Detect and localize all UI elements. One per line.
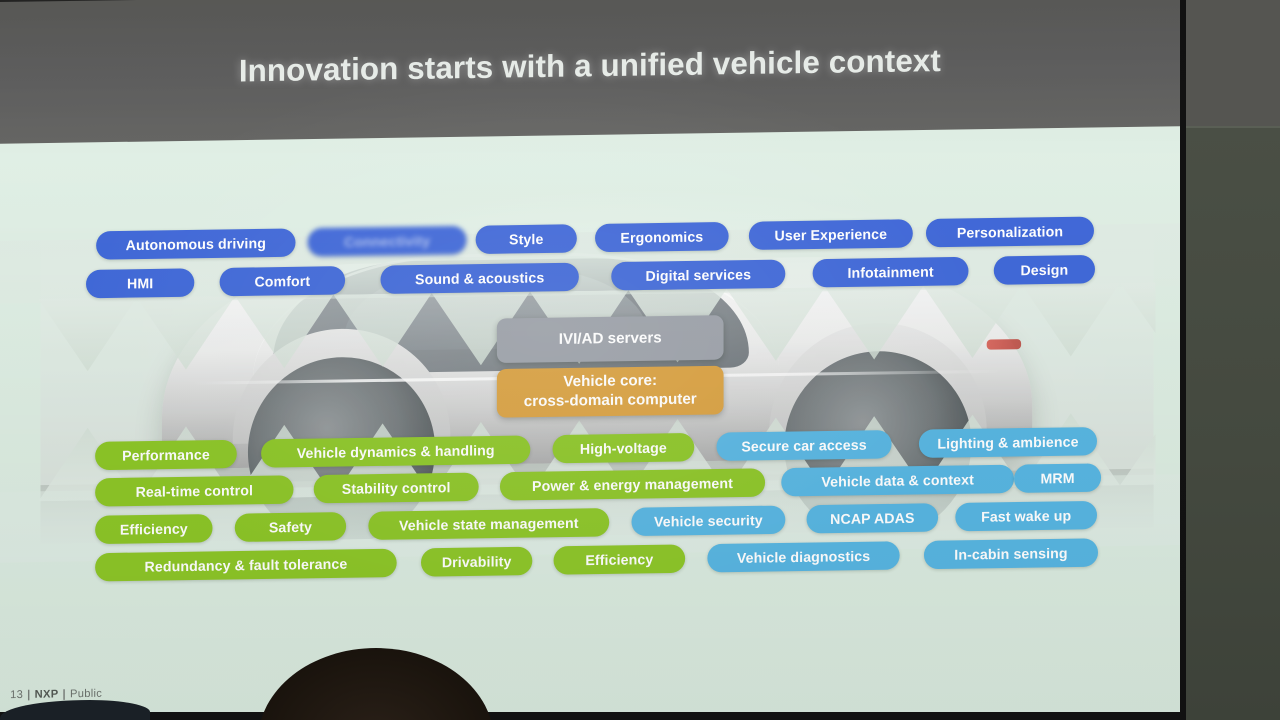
vehicle-core-line-1: Vehicle core:: [563, 372, 657, 393]
capability-pill: Vehicle security: [631, 505, 785, 536]
capability-pill: Efficiency: [554, 544, 686, 574]
capability-pill: Redundancy & fault tolerance: [95, 549, 397, 582]
capability-pill: Style: [476, 224, 577, 254]
capability-pill: Drivability: [421, 547, 532, 577]
capability-pill: Comfort: [220, 266, 345, 296]
capability-pill: Vehicle dynamics & handling: [261, 435, 530, 467]
capability-pill: In-cabin sensing: [924, 538, 1098, 569]
car-tail-light: [987, 339, 1021, 350]
capability-pill: User Experience: [749, 219, 913, 250]
capability-pill: Connectivity: [308, 226, 467, 257]
capability-pill: Efficiency: [95, 514, 212, 544]
footer-brand: NXP: [35, 688, 59, 700]
projection-screen: Innovation starts with a unified vehicle…: [0, 0, 1180, 712]
capability-pill: Power & energy management: [500, 468, 765, 500]
capability-pill: Vehicle diagnostics: [707, 541, 899, 572]
room-wall-right: [1186, 126, 1280, 720]
capability-pill: Autonomous driving: [96, 228, 295, 259]
capability-pill: Ergonomics: [595, 222, 729, 252]
capability-pill: Stability control: [314, 473, 479, 504]
vehicle-core-line-2: cross-domain computer: [524, 390, 697, 412]
wall-seam-line: [1186, 126, 1280, 128]
capability-pill: Performance: [95, 440, 237, 470]
vehicle-core-box: Vehicle core:cross-domain computer: [497, 366, 724, 418]
capability-pill: High-voltage: [553, 433, 695, 463]
footer-classification: Public: [70, 688, 102, 701]
photo-of-projected-slide: Innovation starts with a unified vehicle…: [0, 0, 1280, 720]
capability-pill: Sound & acoustics: [381, 263, 579, 294]
presentation-slide: Innovation starts with a unified vehicle…: [0, 0, 1180, 712]
capability-pill: Design: [994, 255, 1095, 285]
capability-pill: Real-time control: [95, 475, 293, 506]
footer-separator-2: |: [63, 688, 66, 700]
capability-pill: Safety: [235, 512, 346, 542]
footer-page-number: 13: [10, 689, 23, 701]
capability-pill: Vehicle state management: [368, 508, 609, 540]
ivi-ad-servers-box: IVI/AD servers: [497, 315, 724, 363]
projection-screen-frame: Innovation starts with a unified vehicle…: [0, 0, 1186, 720]
footer-separator-1: |: [27, 689, 30, 701]
capability-pill: Personalization: [926, 217, 1094, 248]
capability-pill: Digital services: [611, 260, 785, 291]
capability-pill: Secure car access: [716, 430, 891, 461]
capability-pill: HMI: [86, 268, 194, 298]
capability-pill: Vehicle data & context: [781, 465, 1014, 497]
capability-pill: NCAP ADAS: [807, 503, 939, 533]
capability-pill: Lighting & ambience: [919, 427, 1097, 458]
room-wall-upper-right: [1186, 0, 1280, 128]
capability-pill: Infotainment: [813, 257, 969, 288]
capability-pill: MRM: [1014, 463, 1101, 493]
capability-pill: Fast wake up: [955, 501, 1097, 531]
